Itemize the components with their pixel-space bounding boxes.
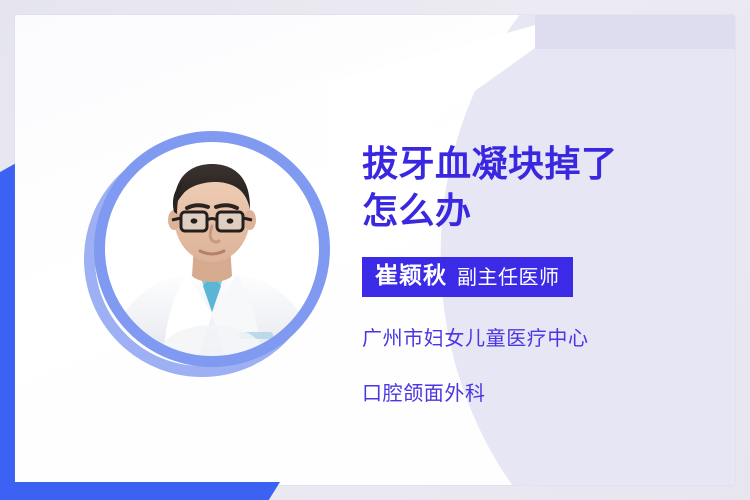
doctor-portrait-frame xyxy=(82,131,330,379)
doctor-info-poster: 拔牙血凝块掉了 怎么办 崔颖秋副主任医师 广州市妇女儿童医疗中心 口腔颌面外科 xyxy=(0,0,750,500)
doctor-name: 崔颖秋 xyxy=(375,263,447,289)
doctor-name-badge: 崔颖秋副主任医师 xyxy=(362,257,573,297)
lavender-top-strip xyxy=(535,15,735,49)
poster-content: 拔牙血凝块掉了 怎么办 崔颖秋副主任医师 广州市妇女儿童医疗中心 口腔颌面外科 xyxy=(362,141,712,406)
poster-card: 拔牙血凝块掉了 怎么办 崔颖秋副主任医师 广州市妇女儿童医疗中心 口腔颌面外科 xyxy=(15,15,735,485)
blue-bottom-stripe-decoration xyxy=(0,482,280,500)
doctor-professional-title: 副主任医师 xyxy=(457,265,560,289)
page-title: 拔牙血凝块掉了 怎么办 xyxy=(362,141,712,235)
doctor-hospital: 广州市妇女儿童医疗中心 xyxy=(362,322,712,351)
portrait-ring-inner xyxy=(94,131,330,367)
doctor-department: 口腔颌面外科 xyxy=(362,377,712,406)
